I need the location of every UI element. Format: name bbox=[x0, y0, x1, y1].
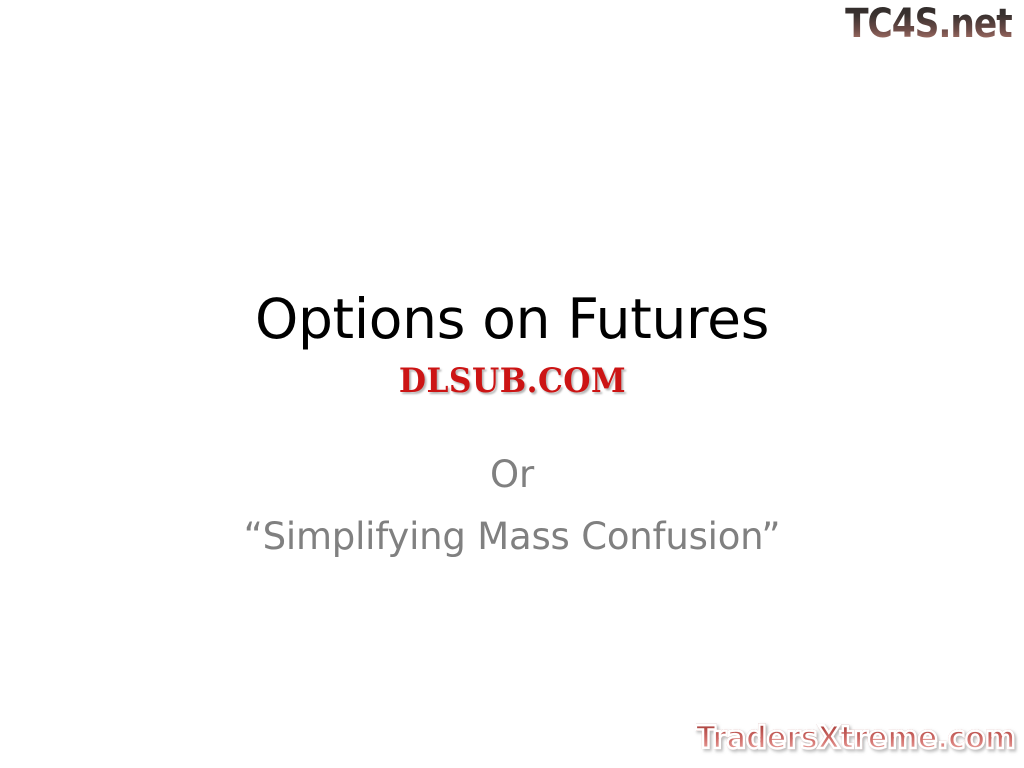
slide-title: Options on Futures bbox=[0, 288, 1024, 350]
presentation-slide: TC4S.net Options on Futures DLSUB.COM Or… bbox=[0, 0, 1024, 768]
dlsub-watermark: DLSUB.COM bbox=[0, 362, 1024, 400]
dlsub-watermark-text: DLSUB.COM bbox=[398, 362, 625, 400]
tradersxtreme-site-logo: TradersXtreme.com bbox=[696, 720, 1015, 756]
subtitle-line-2: “Simplifying Mass Confusion” bbox=[0, 506, 1024, 568]
subtitle-line-1: Or bbox=[0, 444, 1024, 506]
slide-subtitle: Or “Simplifying Mass Confusion” bbox=[0, 444, 1024, 568]
tc4s-site-logo: TC4S.net bbox=[845, 2, 1012, 46]
